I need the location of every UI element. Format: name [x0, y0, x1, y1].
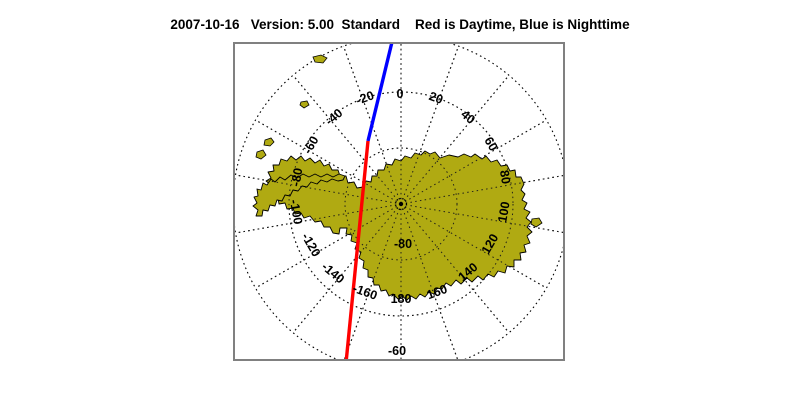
map-plot-area	[233, 42, 565, 361]
antarctica-polar-map	[235, 44, 563, 359]
figure-title: 2007-10-16 Version: 5.00 Standard Red is…	[0, 17, 800, 33]
figure-canvas: 2007-10-16 Version: 5.00 Standard Red is…	[0, 0, 800, 400]
